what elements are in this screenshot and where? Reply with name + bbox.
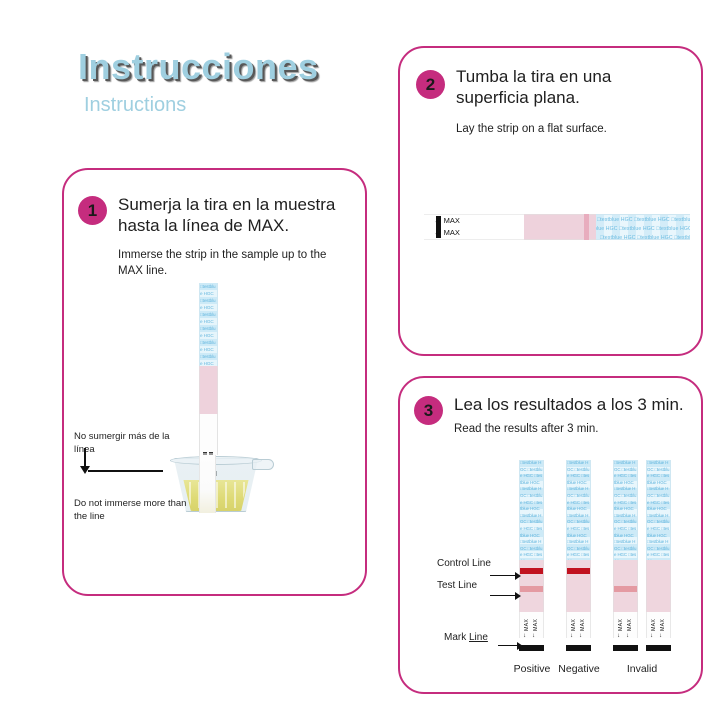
max-label: MAX: [580, 619, 586, 631]
max-group-2: MAX MAX ↓ ↓: [566, 619, 591, 643]
strip-reagent-pad: [519, 560, 544, 612]
max-arrow: ↓: [523, 633, 526, 639]
test-line-arrow: [490, 595, 516, 596]
max-label: MAX: [660, 619, 666, 631]
control-line-label: Control Line: [437, 558, 491, 569]
page-title-en: Instructions: [84, 94, 378, 116]
strip-brand-text-row2: □testblue HGC □testblue HGC □testblue HG…: [596, 225, 676, 234]
strip-brand-text-row3: □testblue HGC □testblue HGC □testblue HG…: [600, 234, 690, 240]
strip-handle: □testblue HGC □testblue HGC □testblue HG…: [199, 283, 218, 366]
max-label-bottom: ← MAX: [434, 228, 460, 237]
page-title-es: Instrucciones: [78, 48, 378, 86]
test-line: [614, 586, 637, 592]
strip-in-cup: [199, 455, 216, 513]
strip-horizontal-pad-line: [584, 214, 589, 240]
max-label: MAX: [651, 619, 657, 631]
control-line-arrow: [490, 575, 516, 576]
strip-brand-text: □testblue HGC □testblue HGC □testblue HG…: [567, 460, 590, 560]
step-2-heading-en: Lay the strip on a flat surface.: [456, 122, 676, 138]
step-2-heading-es: Tumba la tira en una superficia plana.: [456, 66, 666, 109]
strip-handle: □testblue HGC □testblue HGC □testblue HG…: [613, 460, 638, 560]
max-label: MAX: [571, 619, 577, 631]
step-badge-1: 1: [78, 196, 107, 225]
strip-handle: □testblue HGC □testblue HGC □testblue HG…: [646, 460, 671, 560]
mark-line-arrow: [498, 645, 518, 646]
step-panel-2: 2 Tumba la tira en una superficia plana.…: [398, 46, 703, 356]
instruction-sheet: Instrucciones Instructions 1 Sumerja la …: [0, 0, 720, 720]
step-1-heading-es: Sumerja la tira en la muestra hasta la l…: [118, 194, 346, 237]
cup-rim: [170, 456, 262, 465]
step-1-callout-es: No sumergir más de la línea: [74, 430, 184, 457]
strip-handle: □testblue HGC □testblue HGC □testblue HG…: [566, 460, 591, 560]
callout-arrow-head: [80, 466, 90, 474]
max-label: MAX: [533, 619, 539, 631]
max-arrow: ↓: [579, 633, 582, 639]
strip-brand-text: □testblue HGC □testblue HGC □testblue HG…: [200, 283, 217, 366]
max-arrow: ↓: [617, 633, 620, 639]
strip-horizontal-handle: □testblue HGC □testblue HGC □testblue HG…: [596, 214, 690, 240]
max-label: MAX: [627, 619, 633, 631]
test-line-label: Test Line: [437, 580, 477, 591]
strip-reagent-pad: [566, 560, 591, 612]
max-arrow: ↓: [659, 633, 662, 639]
mark-line-label-b: Line: [469, 632, 488, 643]
step-3-heading-es: Lea los resultados a los 3 min.: [454, 394, 694, 415]
mark-line-label-a: Mark: [444, 632, 469, 643]
max-arrow: ↓: [626, 633, 629, 639]
max-label: MAX: [618, 619, 624, 631]
title-block: Instrucciones Instructions: [78, 48, 378, 116]
strip-white-section: [199, 414, 218, 455]
control-line: [567, 568, 590, 574]
strip-reagent-pad: [613, 560, 638, 612]
strip-reagent-pad: [199, 366, 218, 414]
step-3-heading-en: Read the results after 3 min.: [454, 422, 684, 438]
step-1-callout-en: Do not immerse more than the line: [74, 497, 194, 524]
max-group-3: MAX MAX ↓ ↓: [613, 619, 638, 643]
test-strip-horizontal: □testblue HGC □testblue HGC □testblue HG…: [424, 214, 690, 240]
max-arrow: ↓: [650, 633, 653, 639]
step-badge-2: 2: [416, 70, 445, 99]
max-label: MAX: [524, 619, 530, 631]
strip-brand-text-row1: □testblue HGC □testblue HGC □testblue HG…: [597, 216, 690, 225]
cup-handle: [252, 459, 274, 470]
strip-handle: □testblue HGC □testblue HGC □testblue HG…: [519, 460, 544, 560]
max-label-top: ← MAX: [434, 216, 460, 225]
max-group-1: MAX MAX ↓ ↓: [519, 619, 544, 643]
callout-leader-line: [88, 470, 163, 472]
mark-line-bar-2: [566, 645, 591, 651]
test-strip-vertical: □testblue HGC □testblue HGC □testblue HG…: [199, 283, 216, 455]
mark-line-label: Mark Line: [444, 632, 488, 643]
test-line: [520, 586, 543, 592]
max-arrow: ↓: [570, 633, 573, 639]
mark-line-bar-3: [613, 645, 638, 651]
max-group-4: MAX MAX ↓ ↓: [646, 619, 671, 643]
strip-brand-text: □testblue HGC □testblue HGC □testblue HG…: [614, 460, 637, 560]
step-1-heading-en: Immerse the strip in the sample up to th…: [118, 248, 342, 279]
step-badge-3: 3: [414, 396, 443, 425]
mark-line-bar-4: [646, 645, 671, 651]
control-line: [520, 568, 543, 574]
result-label-invalid: Invalid: [606, 663, 678, 675]
strip-brand-text: □testblue HGC □testblue HGC □testblue HG…: [647, 460, 670, 560]
strip-reagent-pad: [646, 560, 671, 612]
result-label-negative: Negative: [551, 663, 607, 675]
strip-brand-text: □testblue HGC □testblue HGC □testblue HG…: [520, 460, 543, 560]
max-arrow: ↓: [532, 633, 535, 639]
